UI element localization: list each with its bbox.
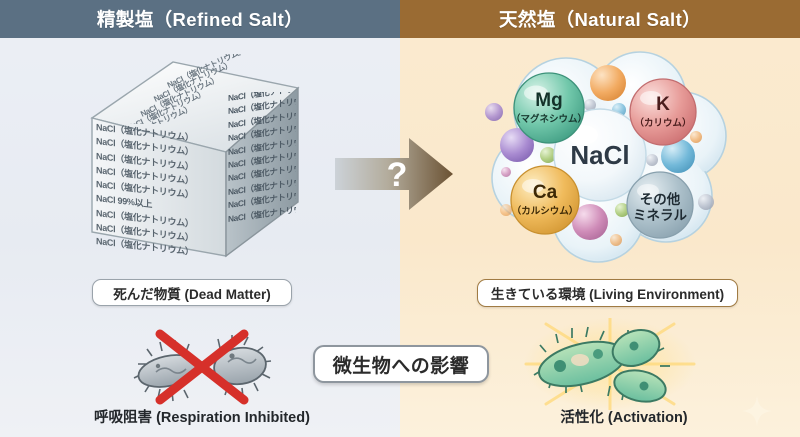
bubble-k: K （カリウム） — [630, 79, 696, 145]
infographic-canvas: 精製塩（Refined Salt） 天然塩（Natural Salt） — [0, 0, 800, 437]
status-badge-living-environment: 生きている環境 (Living Environment) — [477, 279, 738, 307]
status-badge-dead-matter-label: 死んだ物質 (Dead Matter) — [113, 283, 271, 303]
header-refined-salt: 精製塩（Refined Salt） — [0, 0, 400, 38]
inhibited-bacteria-illustration — [128, 326, 276, 408]
status-badge-living-environment-label: 生きている環境 (Living Environment) — [491, 283, 724, 303]
bubble-nacl-label: NaCl — [570, 140, 629, 170]
bubble-mg-symbol: Mg — [535, 90, 562, 111]
caption-activation: 活性化 (Activation) — [524, 406, 724, 427]
bacteria-crossed-icon — [128, 326, 276, 408]
arrow-icon: ? — [335, 136, 453, 212]
bubble-k-symbol: K — [656, 94, 670, 115]
caption-respiration-inhibited: 呼吸阻害 (Respiration Inhibited) — [78, 406, 326, 427]
center-label-microbial-impact: 微生物への影響 — [313, 345, 489, 383]
bubble-other-symbol: その他 — [640, 191, 681, 207]
sparkle-icon — [742, 396, 772, 426]
bubble-ca-symbol: Ca — [533, 182, 558, 203]
bacteria-glowing-icon — [524, 318, 696, 410]
transition-arrow: ? — [335, 136, 453, 212]
header-refined-salt-label: 精製塩（Refined Salt） — [97, 6, 303, 32]
mineral-cloud-illustration: NaCl Mg （マグネシウム） K （カリウム） Ca （カル — [470, 50, 770, 265]
refined-salt-cube: NaCl（塩化ナトリウム） NaCl（塩化ナトリウム） NaCl（塩化ナトリウム… — [78, 56, 308, 261]
header-natural-salt: 天然塩（Natural Salt） — [400, 0, 800, 38]
bubble-k-name: （カリウム） — [634, 117, 691, 129]
bubble-other-minerals: その他 ミネラル — [627, 172, 693, 238]
bubble-other-name: ミネラル — [633, 208, 687, 223]
header-natural-salt-label: 天然塩（Natural Salt） — [499, 6, 701, 32]
arrow-question-mark: ? — [387, 156, 408, 194]
center-label-microbial-impact-text: 微生物への影響 — [333, 351, 470, 378]
cube-right-face-text: NaCl（塩化ナトリウム） NaCl（塩化ナトリウム） NaCl（塩化ナトリウム… — [228, 92, 296, 232]
status-badge-dead-matter: 死んだ物質 (Dead Matter) — [92, 279, 292, 306]
natural-salt-mineral-cloud: NaCl Mg （マグネシウム） K （カリウム） Ca （カル — [470, 50, 770, 265]
bubble-ca: Ca （カルシウム） — [511, 166, 579, 234]
activated-bacteria-illustration — [524, 318, 696, 410]
cube-front-face-text: NaCl（塩化ナトリウム） NaCl（塩化ナトリウム） NaCl（塩化ナトリウム… — [96, 120, 228, 255]
bubble-mg-name: （マグネシウム） — [511, 113, 587, 125]
bubble-ca-name: （カルシウム） — [512, 205, 579, 217]
